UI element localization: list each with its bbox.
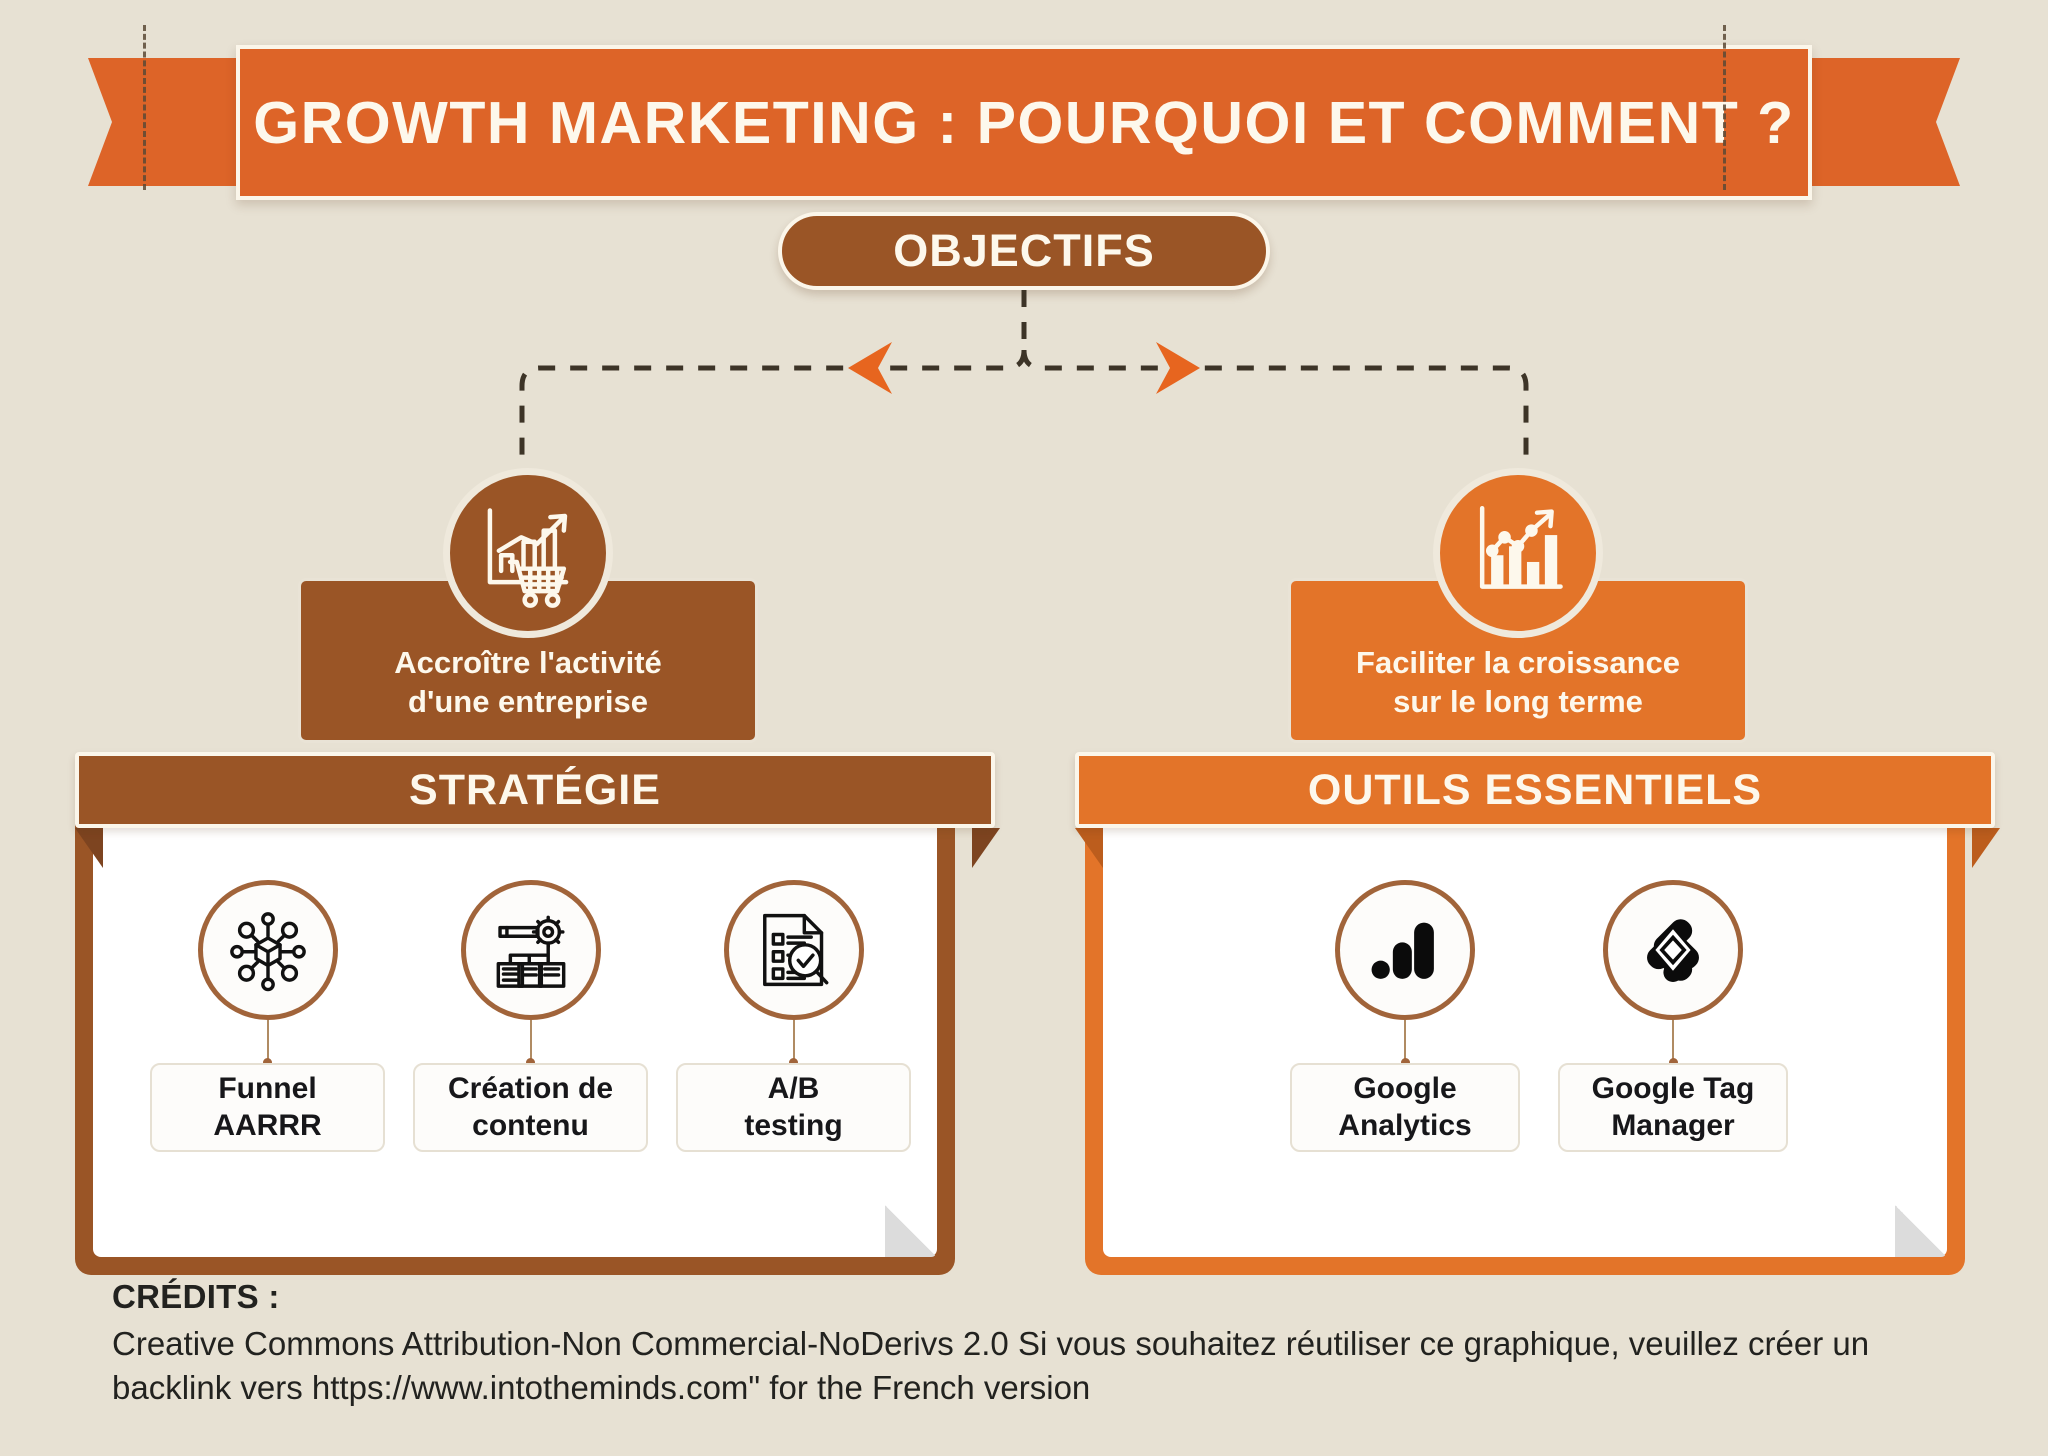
infographic-canvas: GROWTH MARKETING : POURQUOI ET COMMENT ?… (0, 0, 2048, 1456)
list-item[interactable]: Création decontenu (413, 880, 648, 1152)
strategy-items: FunnelAARRR Création decont (150, 880, 911, 1152)
strategy-card-header: STRATÉGIE (75, 752, 995, 828)
tools-items: GoogleAnalytics Google TagManager (1290, 880, 1788, 1152)
network-cube-icon (198, 880, 338, 1020)
bar-chart-cart-icon (443, 468, 613, 638)
item-stem (1672, 1020, 1674, 1062)
ribbon-dash-left (143, 25, 146, 190)
growth-chart-arrow-icon (1433, 468, 1603, 638)
ribbon-tail-left (88, 58, 238, 186)
arrow-right-icon (1156, 342, 1200, 394)
strategy-card-fold (885, 1205, 937, 1257)
google-tag-manager-icon (1603, 880, 1743, 1020)
page-title: GROWTH MARKETING : POURQUOI ET COMMENT ? (253, 89, 1794, 157)
arrow-left-icon (848, 342, 892, 394)
list-item-label: Google TagManager (1558, 1063, 1788, 1152)
tools-head-notch-right (1972, 828, 2000, 868)
header-ribbon: GROWTH MARKETING : POURQUOI ET COMMENT ? (88, 45, 1960, 200)
strategy-head-notch-right (972, 828, 1000, 868)
list-item[interactable]: GoogleAnalytics (1290, 880, 1520, 1152)
item-stem (267, 1020, 269, 1062)
list-item-label: Création decontenu (413, 1063, 648, 1152)
list-item-label: FunnelAARRR (150, 1063, 385, 1152)
ribbon-dash-right (1723, 25, 1726, 190)
list-item[interactable]: Google TagManager (1558, 880, 1788, 1152)
credits-body: Creative Commons Attribution-Non Commerc… (112, 1322, 1952, 1409)
objective-text-left: Accroître l'activitéd'une entreprise (394, 643, 662, 722)
credits-heading: CRÉDITS : (112, 1278, 1952, 1316)
strategy-card-title: STRATÉGIE (409, 766, 661, 815)
credits-block: CRÉDITS : Creative Commons Attribution-N… (112, 1278, 1952, 1409)
tools-card-title: OUTILS ESSENTIELS (1308, 766, 1762, 815)
tools-card-fold (1895, 1205, 1947, 1257)
item-stem (793, 1020, 795, 1062)
ribbon-tail-right (1810, 58, 1960, 186)
document-checklist-magnifier-icon (724, 880, 864, 1020)
item-stem (530, 1020, 532, 1062)
tools-card-header: OUTILS ESSENTIELS (1075, 752, 1995, 828)
list-item-label: GoogleAnalytics (1290, 1063, 1520, 1152)
ribbon-banner: GROWTH MARKETING : POURQUOI ET COMMENT ? (236, 45, 1812, 200)
item-stem (1404, 1020, 1406, 1062)
list-item[interactable]: FunnelAARRR (150, 880, 385, 1152)
connector-lines (0, 260, 2048, 560)
objective-text-right: Faciliter la croissancesur le long terme (1356, 643, 1680, 722)
list-item-label: A/Btesting (676, 1063, 911, 1152)
gear-wrench-documents-icon (461, 880, 601, 1020)
list-item[interactable]: A/Btesting (676, 880, 911, 1152)
google-analytics-icon (1335, 880, 1475, 1020)
